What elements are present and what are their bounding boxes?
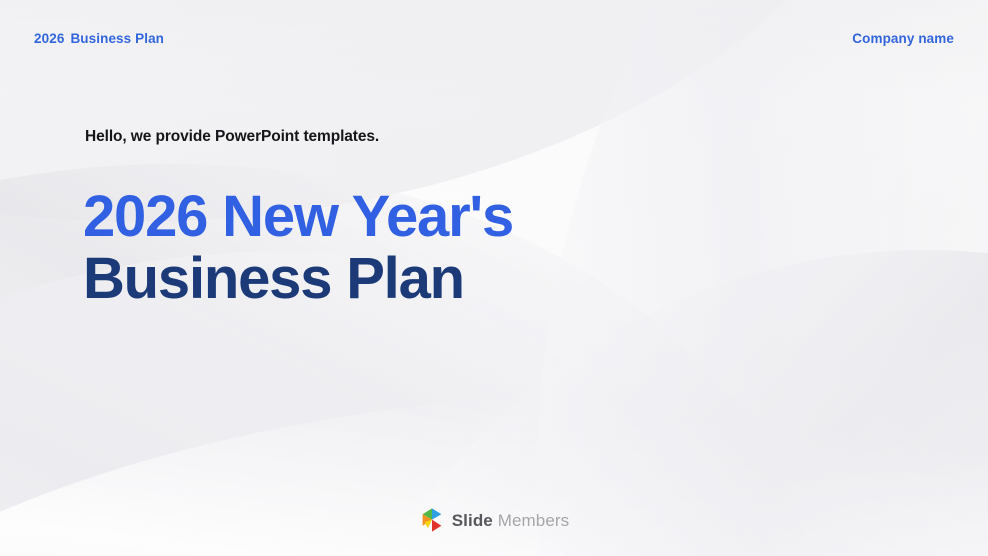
presentation-slide: 2026Business Plan Company name Hello, we…: [0, 0, 988, 556]
slide-members-wordmark: Slide Members: [452, 512, 570, 529]
page-title: 2026 New Year's Business Plan: [83, 186, 723, 310]
brand-name-light: Members: [498, 511, 570, 530]
slide-members-logo-icon: [419, 506, 445, 534]
slide-header: 2026Business Plan Company name: [0, 26, 988, 50]
header-plan-label: Business Plan: [70, 31, 164, 46]
title-block: Hello, we provide PowerPoint templates. …: [83, 128, 723, 310]
header-left-label: 2026Business Plan: [34, 31, 164, 46]
slide-footer: Slide Members: [0, 506, 988, 534]
page-title-line-1: 2026 New Year's: [83, 186, 723, 248]
header-year: 2026: [34, 31, 64, 46]
brand-name-bold: Slide: [452, 511, 493, 530]
header-company-name: Company name: [852, 31, 954, 46]
slide-eyebrow-text: Hello, we provide PowerPoint templates.: [85, 128, 723, 146]
page-title-line-2: Business Plan: [83, 248, 723, 310]
